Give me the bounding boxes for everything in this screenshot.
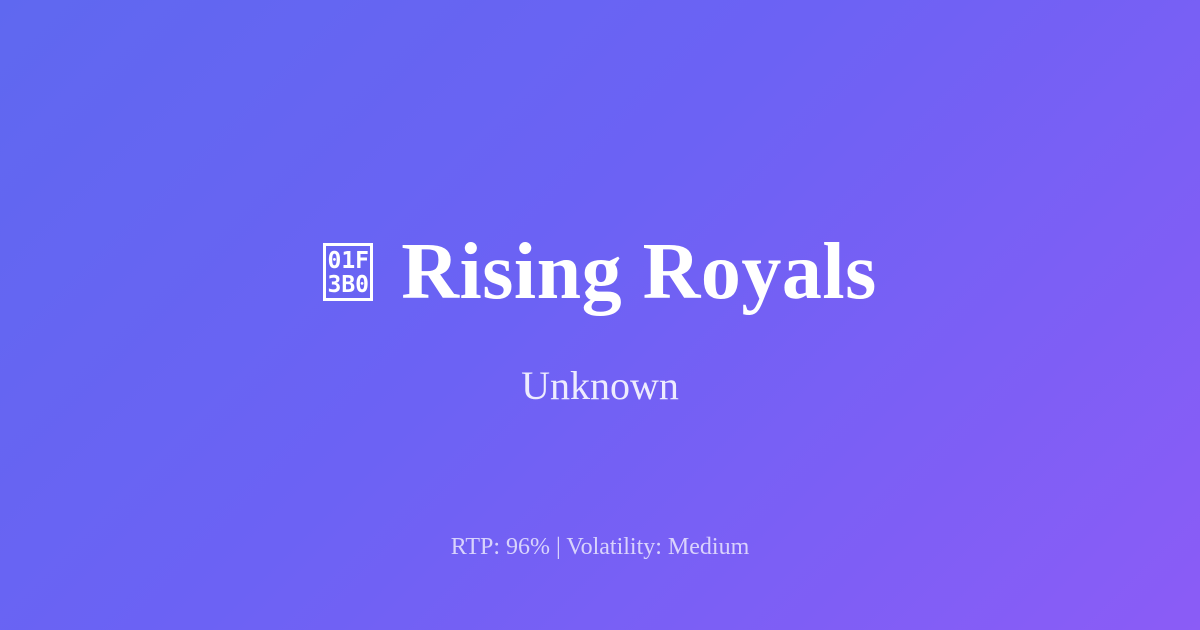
tofu-codepoint-line-2: 3B0 xyxy=(327,273,369,297)
game-meta-info: RTP: 96% | Volatility: Medium xyxy=(0,533,1200,562)
title-row: 01F 3B0 Rising Royals xyxy=(0,232,1200,312)
page-title: Rising Royals xyxy=(401,232,876,312)
tofu-codepoint-line-1: 01F xyxy=(327,249,369,273)
slot-machine-icon: 01F 3B0 xyxy=(323,243,373,301)
game-preview-card: 01F 3B0 Rising Royals Unknown RTP: 96% |… xyxy=(0,0,1200,630)
provider-name: Unknown xyxy=(0,362,1200,410)
